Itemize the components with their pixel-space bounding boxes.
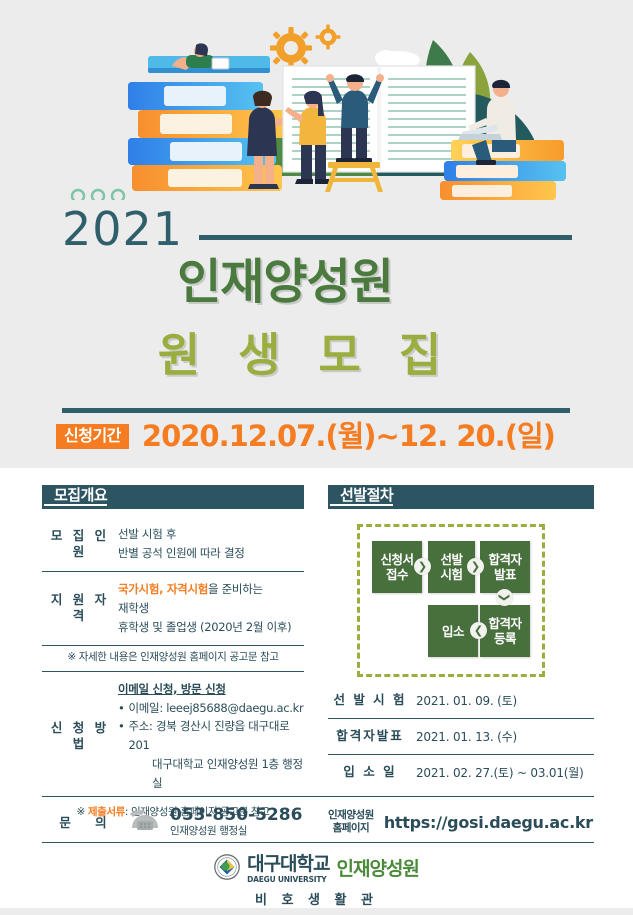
schedule-table: 선 발 시 험 2021. 01. 09. (토) 합격자발표 2021. 01… — [328, 683, 594, 790]
flow-node-registration: 합격자 등록 — [480, 605, 530, 657]
year-divider-rule — [199, 235, 572, 240]
table-row: 합격자발표 2021. 01. 13. (수) — [328, 718, 594, 754]
flow-node-announcement-line2: 발표 — [494, 567, 516, 582]
title-divider-rule — [62, 408, 570, 413]
year-label: 2021 — [62, 206, 183, 252]
page-title-main: 인재양성원 — [0, 258, 570, 306]
arrow-left-icon: ❮ — [470, 622, 487, 639]
eligibility-line-1: 국가시험, 자격시험을 준비하는 — [118, 580, 304, 599]
schedule-value-exam: 2021. 01. 09. (토) — [412, 692, 594, 709]
contact-phone-block: 053-850-5286 인재양성원 행정실 — [170, 806, 302, 838]
homepage-label: 인재양성원 홈페이지 — [328, 809, 374, 834]
table-row: 신 청 방 법 이메일 신청, 방문 신청 • 이메일: leeej85688@… — [42, 671, 304, 802]
schedule-value-admission: 2021. 02. 27.(토) ~ 03.01(월) — [412, 764, 594, 781]
content-panel: 모집개요 선발절차 모 집 인 원 선발 시험 후 반별 공석 인원에 따라 결… — [0, 468, 633, 908]
section-heading-process-label: 선발절차 — [330, 488, 393, 506]
row-label-eligibility: 지 원 자 격 — [42, 592, 118, 625]
table-row: 지 원 자 격 국가시험, 자격시험을 준비하는 재학생 휴학생 및 졸업생 (… — [42, 571, 304, 645]
row-label-quota: 모 집 인 원 — [42, 528, 118, 561]
apply-method-heading: 이메일 신청, 방문 신청 — [118, 680, 304, 699]
homepage-url-link[interactable]: https://gosi.daegu.ac.kr — [384, 813, 593, 832]
arrow-right-icon: ❯ — [467, 558, 484, 575]
contact-phone-office: 인재양성원 행정실 — [170, 825, 302, 838]
row-value-quota: 선발 시험 후 반별 공석 인원에 따라 결정 — [118, 525, 304, 563]
schedule-label-announcement: 합격자발표 — [328, 730, 412, 743]
quota-line-2: 반별 공석 인원에 따라 결정 — [118, 544, 304, 563]
schedule-label-exam: 선 발 시 험 — [328, 694, 412, 707]
selection-process-flowchart: 신청서 접수 선발 시험 합격자 발표 입소 합격자 등록 ❯ ❯ ❯ ❮ — [357, 524, 545, 677]
application-period-row: 신청기간 2020.12.07.(월)~12. 20.(일) — [56, 422, 555, 451]
overview-table: 모 집 인 원 선발 시험 후 반별 공석 인원에 따라 결정 지 원 자 격 … — [42, 517, 304, 826]
arrow-right-icon: ❯ — [414, 558, 431, 575]
apply-address-text: 주소: 경북 경산시 진량읍 대구대로 201 — [128, 717, 304, 755]
flow-node-admission-line1: 입소 — [442, 624, 464, 639]
flow-node-registration-line1: 합격자 — [488, 616, 521, 631]
application-period-badge: 신청기간 — [56, 424, 129, 449]
flow-node-application-line2: 접수 — [386, 567, 408, 582]
footer-divider-rule — [42, 842, 594, 843]
flow-node-application-line1: 신청서 — [380, 552, 413, 567]
dormitory-name: 비 호 생 활 관 — [255, 889, 378, 908]
contact-label: 문 의 — [42, 812, 126, 831]
table-row: 선 발 시 험 2021. 01. 09. (토) — [328, 683, 594, 718]
eligibility-note: ※ 자세한 내용은 인재양성원 홈페이지 공고문 참고 — [42, 645, 304, 671]
flow-node-registration-line2: 등록 — [494, 631, 516, 646]
arrow-down-icon: ❯ — [496, 589, 513, 606]
university-name-en: DAEGU UNIVERSITY — [247, 876, 329, 884]
contact-phone-number: 053-850-5286 — [170, 806, 302, 826]
telephone-icon — [128, 808, 162, 836]
page-title-sub: 원 생 모 집 — [0, 332, 610, 378]
apply-bullet-address: • 주소: 경북 경산시 진량읍 대구대로 201 — [118, 717, 304, 755]
table-row: 입 소 일 2021. 02. 27.(토) ~ 03.01(월) — [328, 754, 594, 790]
flow-node-exam-line2: 시험 — [440, 567, 462, 582]
homepage-label-line1: 인재양성원 — [328, 809, 374, 822]
footer-logo-block: 대구대학교 DAEGU UNIVERSITY 인재양성원 비 호 생 활 관 — [0, 854, 633, 908]
section-heading-process: 선발절차 — [328, 485, 594, 509]
eligibility-highlight: 국가시험, 자격시험 — [118, 582, 208, 596]
bullet-dot-icon: • — [118, 699, 124, 718]
flow-node-announcement: 합격자 발표 — [480, 541, 530, 593]
row-label-apply-method: 신 청 방 법 — [42, 720, 118, 753]
apply-email-text: 이메일: leeej85688@daegu.ac.kr — [128, 699, 303, 718]
contact-band: 문 의 053-850-5286 인재양성원 행정실 — [42, 796, 594, 843]
application-period-dates: 2020.12.07.(월)~12. 20.(일) — [142, 422, 555, 451]
contact-phone-group: 문 의 053-850-5286 인재양성원 행정실 — [42, 806, 328, 838]
university-seal-icon — [214, 854, 240, 884]
row-value-eligibility: 국가시험, 자격시험을 준비하는 재학생 휴학생 및 졸업생 (2020년 2월… — [118, 580, 304, 637]
flow-node-exam-line1: 선발 — [440, 552, 462, 567]
logo-row: 대구대학교 DAEGU UNIVERSITY 인재양성원 — [214, 854, 419, 884]
apply-bullet-email: • 이메일: leeej85688@daegu.ac.kr — [118, 699, 304, 718]
homepage-label-line2: 홈페이지 — [328, 822, 374, 835]
schedule-label-admission: 입 소 일 — [328, 766, 412, 779]
quota-line-1: 선발 시험 후 — [118, 525, 304, 544]
apply-address-line2: 대구대학교 인재양성원 1층 행정실 — [118, 755, 304, 793]
table-row: 모 집 인 원 선발 시험 후 반별 공석 인원에 따라 결정 — [42, 517, 304, 571]
eligibility-line-2: 재학생 — [118, 599, 304, 618]
section-heading-overview: 모집개요 — [42, 485, 304, 509]
poster-root: 2021 인재양성원 원 생 모 집 신청기간 2020.12.07.(월)~1… — [0, 0, 633, 915]
section-heading-overview-label: 모집개요 — [44, 488, 107, 506]
year-row: 2021 — [62, 203, 572, 255]
university-name-block: 대구대학교 DAEGU UNIVERSITY — [247, 855, 329, 884]
contact-homepage-group: 인재양성원 홈페이지 https://gosi.daegu.ac.kr — [328, 809, 593, 834]
bullet-dot-icon: • — [118, 717, 124, 755]
center-name: 인재양성원 — [337, 860, 419, 879]
eligibility-highlight-tail: 을 준비하는 — [208, 582, 263, 596]
university-name-ko: 대구대학교 — [247, 855, 329, 874]
eligibility-line-3: 휴학생 및 졸업생 (2020년 2월 이후) — [118, 618, 304, 637]
bottom-strip — [0, 908, 633, 915]
schedule-value-announcement: 2021. 01. 13. (수) — [412, 728, 594, 745]
flow-node-announcement-line1: 합격자 — [488, 552, 521, 567]
row-value-apply-method: 이메일 신청, 방문 신청 • 이메일: leeej85688@daegu.ac… — [118, 680, 304, 794]
hero-illustration — [0, 0, 633, 200]
